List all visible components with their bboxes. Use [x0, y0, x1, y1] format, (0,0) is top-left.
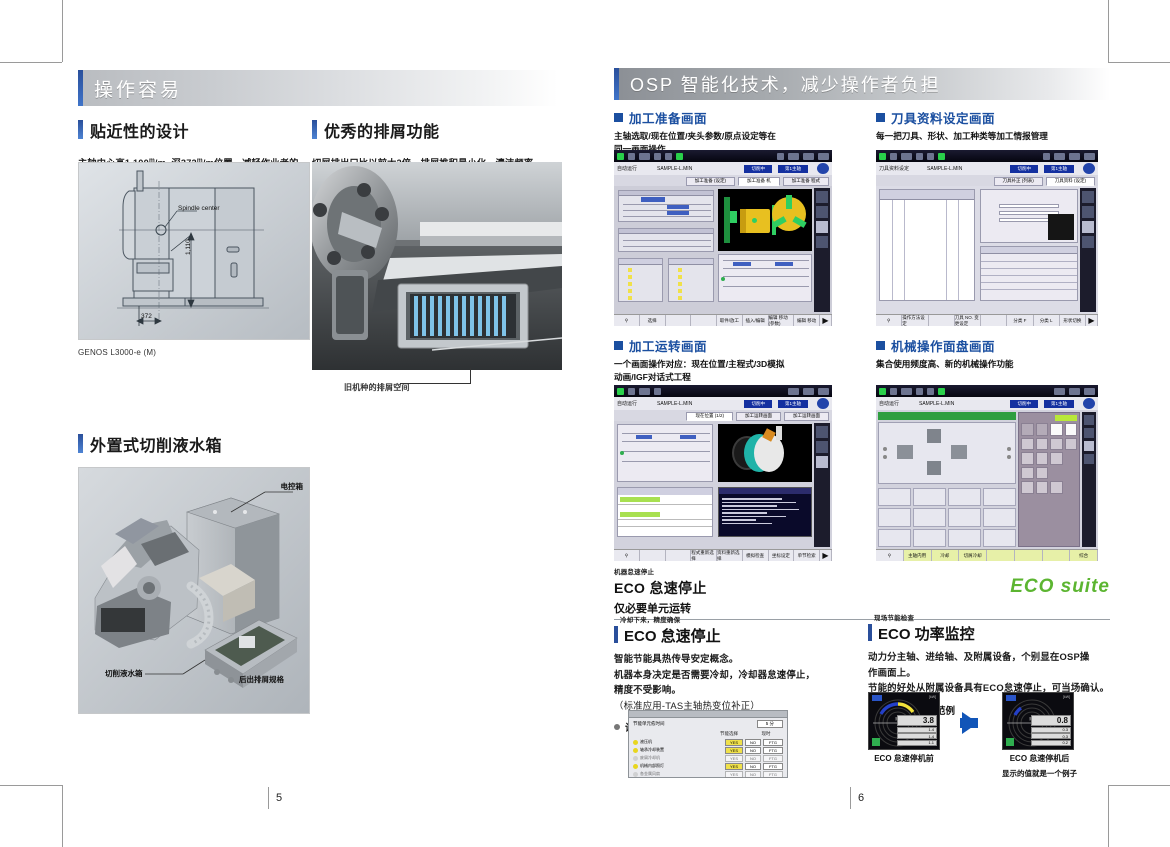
page-number-right: 6 — [858, 792, 864, 804]
softkey-6[interactable]: 形状切换 — [1060, 315, 1086, 326]
eco-settings-panel[interactable]: 节能单元愈时间 5 分 节能选择 现时 液压机 YES NO FTG — [628, 710, 788, 778]
heading-tick — [614, 626, 618, 643]
gauge-after[interactable]: [kW] 测时 电力 0.8 0.3 0.3 0.2 — [1002, 692, 1074, 750]
comparison-arrow-icon — [962, 712, 978, 734]
softkey-2[interactable]: 切屑冷却 — [959, 550, 987, 561]
osp-mode-label: 自动运行 — [617, 400, 637, 407]
osp-tab-1[interactable]: 刀具资料 (设定) — [1046, 177, 1095, 186]
osp-toolbar[interactable] — [614, 385, 832, 397]
softkey-3[interactable] — [981, 315, 1007, 326]
osp-program-name: SAMPLE-L.MIN — [927, 166, 962, 172]
caption-genos-l3000: GENOS L3000-e (M) — [78, 348, 156, 357]
softkey-0[interactable]: 主轴内用 — [904, 550, 932, 561]
heading-text: 加工准备画面 — [629, 108, 707, 127]
osp-status-b: 第1主轴 — [1044, 165, 1074, 173]
gauge-unit-before: [kW] — [929, 695, 936, 699]
sim-viewport-3d[interactable] — [718, 424, 812, 482]
heading-tick — [868, 624, 872, 641]
row-no[interactable]: NO — [745, 747, 761, 754]
right-page: OSP 智能化技术，减少操作者负担 加工准备画面 主轴选取/现在位置/夹头参数/… — [600, 0, 1130, 847]
folio-rule — [850, 787, 851, 809]
row-no[interactable]: NO — [745, 739, 761, 746]
softkey-0[interactable]: 选择 — [640, 315, 666, 326]
gauge-row-1-after: 0.3 — [1031, 733, 1071, 739]
status-icon[interactable] — [803, 388, 814, 395]
softkey-1[interactable] — [929, 315, 955, 326]
gauge-value-before: 3.8 — [897, 715, 937, 726]
figure-machine-side-drawing: Spindle center 1,110 372 — [78, 162, 310, 340]
graphics-viewport[interactable] — [718, 189, 812, 251]
gauge-row-0-before: 1.4 — [897, 727, 937, 733]
tool-list-table[interactable] — [879, 189, 975, 301]
eco-left-body: 智能节能具热传导安定概念。 机器本身决定是否需要冷却，冷却器怠速停止， 精度不受… — [614, 651, 854, 713]
softkey-icon[interactable]: ⚲ — [876, 315, 902, 326]
caption-old-machine-chip-space: 旧机种的排屑空间 — [344, 382, 410, 393]
softkey-5[interactable]: 分类 L — [1034, 315, 1060, 326]
body-line-4: （标准应用-TAS主轴热变位补正） — [614, 700, 760, 711]
osp-content-tool-data — [876, 186, 1098, 314]
desc-line-1: 集合使用频度高、新的机械操作功能 — [876, 359, 1014, 369]
gauge-after-group: [kW] 测时 电力 0.8 0.3 0.3 0.2 ECO 怠速停机后 显示的… — [1002, 692, 1077, 779]
eco-field-value[interactable]: 5 分 — [757, 720, 783, 728]
gauge-row-2-after: 0.2 — [1031, 740, 1071, 746]
left-page-banner: 操作容易 — [78, 70, 558, 106]
gauge-mode-icon-before — [872, 695, 882, 701]
row-no[interactable]: NO — [745, 755, 761, 762]
osp-status-a: 切削中 — [744, 165, 772, 173]
screen-block-tool-data: 刀具资料设定画面 每一把刀具、形状、加工种类等加工情报管理 — [876, 108, 1110, 143]
help-icon[interactable] — [817, 398, 829, 409]
osp-toolbar[interactable] — [876, 150, 1098, 162]
mode-icon[interactable] — [628, 388, 635, 395]
icon-rail[interactable] — [1082, 412, 1096, 547]
row-name: 液压机 — [640, 739, 723, 745]
figure-chip-conveyor-photo — [312, 162, 562, 370]
left-banner-title: 操作容易 — [94, 75, 182, 102]
heading-tool-data-screen: 刀具资料设定画面 — [876, 108, 1110, 127]
heading-text: 刀具资料设定画面 — [891, 108, 995, 127]
osp-tab-0[interactable]: 刀具补正 (列表) — [994, 177, 1043, 186]
osp-program-name: SAMPLE-L.MIN — [657, 401, 692, 407]
heading-operation-screen: 加工运转画面 — [614, 336, 848, 355]
gauge-caption-before: ECO 怠速停机前 — [868, 753, 940, 764]
softkey-3[interactable] — [987, 550, 1015, 561]
table-row[interactable]: 轴承冷却装置 YES NO FTG — [629, 746, 787, 754]
osp-softkeys-operation[interactable]: ⚲ 程式重新选择 资料重新选择 模拟检查 坐标设定 单节检索 ▶ — [614, 549, 832, 561]
menu-icon[interactable] — [1054, 153, 1065, 160]
osp-content-operation — [614, 421, 832, 549]
row-state[interactable]: FTG — [763, 771, 783, 778]
mode-icon[interactable] — [890, 153, 897, 160]
eco-panel-rows: 液压机 YES NO FTG 轴承冷却装置 YES NO FTG 废屑冷却机 Y… — [629, 738, 787, 778]
clock-icon — [818, 388, 829, 395]
softkey-5[interactable]: 坐标设定 — [769, 550, 795, 561]
row-name: 机械内部照灯 — [640, 763, 723, 769]
heading-text: ECO 功率监控 — [878, 623, 975, 644]
osp-screen-machine-panel[interactable]: 自动运行 SAMPLE-L.MIN 切削中 第1主轴 — [876, 385, 1098, 561]
gauge-row-1-before: 1.4 — [897, 733, 937, 739]
body-line-2: 作画面上。 — [868, 667, 916, 678]
heading-text: 外置式切削液水箱 — [90, 432, 222, 456]
gauge-row-2-before: 1.1 — [897, 740, 937, 746]
eco-panel-colheads: 节能选择 现时 — [629, 730, 787, 738]
menu-icon[interactable] — [1054, 388, 1065, 395]
help-icon[interactable] — [817, 163, 829, 174]
softkey-2[interactable] — [691, 315, 717, 326]
osp-mode-label: 刀具资料设定 — [879, 165, 909, 172]
desc-line-1: 一个画面操作对应：现在位置/主程式/3D模拟 — [614, 359, 784, 369]
heading-machine-panel-screen: 机械操作面盘画面 — [876, 336, 1110, 355]
program-listing[interactable] — [718, 487, 812, 537]
gauge-readout-after: 0.8 0.3 0.3 0.2 — [1031, 715, 1071, 746]
screen-block-operation: 加工运转画面 一个画面操作对应：现在位置/主程式/3D模拟 动画/IGF对话式工… — [614, 336, 848, 384]
eco-right-mini: 现场节能检查 — [868, 612, 1112, 622]
osp-toolbar[interactable] — [614, 150, 832, 162]
osp-content-prep — [614, 186, 832, 314]
desc-operation-screen: 一个画面操作对应：现在位置/主程式/3D模拟 动画/IGF对话式工程 — [614, 358, 848, 384]
softkey-1[interactable] — [666, 315, 692, 326]
run-icon[interactable] — [617, 388, 624, 395]
row-state[interactable]: FTG — [763, 747, 783, 754]
osp-tab-2[interactable]: 加工准备 程式 — [783, 177, 829, 186]
col-head-0: 节能选择 — [709, 731, 749, 737]
osp-status-b: 第1主轴 — [778, 165, 808, 173]
next-page-icon[interactable]: ▶ — [820, 550, 832, 561]
osp-screen-prep[interactable]: 自动运行 SAMPLE-L.MIN 切削中 第1主轴 加工准备 (设定) 加工准… — [614, 150, 832, 326]
left-page: 操作容易 贴近性的设计 主轴中心高1,100m/m, 深372m/m位置，减轻作… — [40, 0, 585, 847]
table-row[interactable]: 机械内部照灯 YES NO FTG — [629, 762, 787, 770]
heading-chip-disposal: 优秀的排屑功能 — [312, 118, 562, 142]
table-row[interactable]: 各金属风扇 YES NO FTG — [629, 770, 787, 778]
osp-tabrow[interactable]: 现在位置 (1/2) 加工运转画面 加工运转画面 — [614, 410, 832, 421]
heading-text: 优秀的排屑功能 — [324, 118, 440, 142]
osp-status-a: 切削中 — [744, 400, 772, 408]
banner-accent-bar — [614, 68, 619, 100]
gauge-unit-after: [kW] — [1063, 695, 1070, 699]
softkey-5[interactable]: 编辑 移动 (参数) — [769, 315, 795, 326]
osp-status-a: 切削中 — [1010, 400, 1038, 408]
row-name: 轴承冷却装置 — [640, 747, 723, 753]
heading-text: 机械操作面盘画面 — [891, 336, 995, 355]
square-bullet-icon — [614, 113, 623, 122]
row-yes[interactable]: YES — [725, 747, 743, 754]
softkey-3[interactable]: 资料重新选择 — [717, 550, 743, 561]
state-dot-icon — [633, 772, 638, 777]
row-yes[interactable]: YES — [725, 755, 743, 762]
icon-palette[interactable] — [1018, 412, 1080, 547]
coolant-icon[interactable] — [927, 388, 934, 395]
osp-program-name: SAMPLE-L.MIN — [919, 401, 954, 407]
menu-icon[interactable] — [788, 153, 799, 160]
banner-accent-bar — [78, 70, 83, 106]
desc-line-2: 动画/IGF对话式工程 — [614, 372, 691, 382]
run-icon[interactable] — [879, 153, 886, 160]
softkey-1[interactable]: 冷却 — [932, 550, 960, 561]
alarm-icon[interactable] — [1043, 153, 1050, 160]
folio-left: 5 — [268, 787, 282, 809]
label-spindle-center: Spindle center — [178, 205, 220, 212]
tool-offset-table[interactable] — [980, 246, 1078, 301]
caption-leader-h — [400, 383, 471, 384]
menu-icon[interactable] — [788, 388, 799, 395]
row-yes[interactable]: YES — [725, 771, 743, 778]
spindle-icon[interactable] — [916, 153, 923, 160]
machine-schematic[interactable] — [878, 422, 1016, 484]
softkey-3[interactable]: 取件/放工 — [717, 315, 743, 326]
next-page-icon[interactable]: ▶ — [820, 315, 832, 326]
osp-content-machine-panel — [876, 410, 1098, 549]
osp-toolbar[interactable] — [876, 385, 1098, 397]
row-no[interactable]: NO — [745, 771, 761, 778]
eco-panel-titlebar — [629, 711, 787, 718]
osp-screen-operation[interactable]: 自动运行 SAMPLE-L.MIN 切削中 第1主轴 现在位置 (1/2) 加工… — [614, 385, 832, 561]
osp-tab-0[interactable]: 加工准备 (设定) — [686, 177, 735, 186]
clock-icon — [1084, 388, 1095, 395]
heading-tick — [312, 120, 317, 139]
table-row[interactable]: 液压机 YES NO FTG — [629, 738, 787, 746]
heading-prep-screen: 加工准备画面 — [614, 108, 842, 127]
osp-tabrow[interactable]: 加工准备 (设定) 加工准备 机 加工准备 程式 — [614, 175, 832, 186]
osp-mode-label: 自动运行 — [617, 165, 637, 172]
figure-coolant-tank-layout: 电控箱 切削液水箱 后出排屑规格 — [78, 467, 310, 714]
clock-icon — [818, 153, 829, 160]
col-head-1: 现时 — [749, 731, 783, 737]
run-icon[interactable] — [879, 388, 886, 395]
osp-titlebar: 刀具资料设定 SAMPLE-L.MIN 切削中 第1主轴 — [876, 162, 1098, 175]
heading-external-coolant-tank: 外置式切削液水箱 — [78, 432, 378, 456]
row-state[interactable]: FTG — [763, 763, 783, 770]
row-state[interactable]: FTG — [763, 739, 783, 746]
square-bullet-icon — [876, 341, 885, 350]
osp-screen-tool-data[interactable]: 刀具资料设定 SAMPLE-L.MIN 切削中 第1主轴 刀具补正 (列表) 刀… — [876, 150, 1098, 326]
eco-leaf-icon-after — [1006, 738, 1014, 746]
spindle-icon[interactable] — [654, 388, 661, 395]
process-table[interactable] — [617, 487, 713, 537]
feed-icon[interactable] — [901, 388, 912, 395]
body-line-2: 机器本身决定是否需要冷却，冷却器怠速停止， — [614, 669, 815, 680]
softkey-4[interactable]: 分类 F — [1007, 315, 1033, 326]
heading-text: ECO 怠速停止 — [624, 625, 721, 646]
softkey-icon[interactable]: ⚲ — [614, 315, 640, 326]
square-bullet-icon — [876, 113, 885, 122]
osp-mode-label: 自动运行 — [879, 400, 899, 407]
right-banner-title: OSP 智能化技术，减少操作者负担 — [630, 71, 941, 97]
eco-title: ECO 怠速停止 — [614, 578, 707, 598]
param-table-2[interactable] — [618, 228, 714, 252]
softkey-4[interactable]: 插入/编辑 — [743, 315, 769, 326]
osp-status-b: 第1主轴 — [1044, 400, 1074, 408]
desc-line-1: 主轴选取/现在位置/夹头参数/原点设定等在 — [614, 131, 776, 141]
eco-left-heading: ECO 怠速停止 — [614, 625, 854, 646]
osp-tab-0[interactable]: 现在位置 (1/2) — [686, 412, 733, 421]
softkey-1[interactable] — [666, 550, 692, 561]
row-name: 废屑冷却机 — [640, 755, 723, 761]
tool-icon[interactable] — [676, 153, 683, 160]
status-icon[interactable] — [1069, 388, 1080, 395]
next-page-icon[interactable]: ▶ — [1086, 315, 1098, 326]
position-panel[interactable] — [617, 424, 713, 482]
gauge-mode-icon-after — [1006, 695, 1016, 701]
icon-rail[interactable] — [814, 423, 830, 547]
osp-status-b: 第1主轴 — [778, 400, 808, 408]
eco-field-label: 节能单元愈时间 — [633, 721, 665, 727]
gauge-caption-after: ECO 怠速停机后 — [1002, 753, 1077, 764]
row-name: 各金属风扇 — [640, 771, 723, 777]
spindle-icon[interactable] — [916, 388, 923, 395]
coolant-icon[interactable] — [927, 153, 934, 160]
run-icon[interactable] — [617, 153, 624, 160]
label-rear-chip-spec: 后出排屑规格 — [239, 674, 284, 685]
bullet-dot-icon — [614, 724, 620, 730]
spindle-icon[interactable] — [654, 153, 661, 160]
softkey-6[interactable]: 编辑 移动 — [794, 315, 820, 326]
gauge-value-after: 0.8 — [1031, 715, 1071, 726]
desc-tool-data-screen: 每一把刀具、形状、加工种类等加工情报管理 — [876, 130, 1110, 143]
offset-table-left[interactable] — [618, 258, 663, 302]
row-no[interactable]: NO — [745, 763, 761, 770]
osp-softkeys-prep[interactable]: ⚲ 选择 取件/放工 插入/编辑 编辑 移动 (参数) 编辑 移动 ▶ — [614, 314, 832, 326]
eco-small-label: 机器怠速停止 — [614, 566, 1110, 576]
screen-block-machine-panel: 机械操作面盘画面 集合使用频度高、新的机械操作功能 — [876, 336, 1110, 371]
osp-softkeys-machine-panel[interactable]: ⚲ 主轴内用 冷却 切屑冷却 综合 — [876, 549, 1098, 561]
gauge-row-0-after: 0.3 — [1031, 727, 1071, 733]
softkey-2[interactable]: 程式重新选择 — [691, 550, 717, 561]
osp-tab-1[interactable]: 加工准备 机 — [738, 177, 780, 186]
feed-icon[interactable] — [901, 153, 912, 160]
softkey-icon[interactable]: ⚲ — [614, 550, 640, 561]
status-icon[interactable] — [1069, 153, 1080, 160]
state-dot-icon — [633, 764, 638, 769]
brochure-spread: 操作容易 贴近性的设计 主轴中心高1,100m/m, 深372m/m位置，减轻作… — [0, 0, 1170, 847]
coolant-icon[interactable] — [665, 153, 672, 160]
state-dot-icon — [633, 748, 638, 753]
gauge-footnote: 显示的值就是一个例子 — [1002, 768, 1077, 779]
eco-panel-field-row[interactable]: 节能单元愈时间 5 分 — [629, 718, 787, 730]
eco-leaf-icon-before — [872, 738, 880, 746]
function-button-grid[interactable] — [878, 488, 1016, 547]
heading-tick — [78, 120, 83, 139]
help-icon[interactable] — [1083, 163, 1095, 174]
body-line-1: 动力分主轴、进给轴、及附属设备，个别显在OSP操 — [868, 651, 1089, 662]
softkey-icon[interactable]: ⚲ — [876, 550, 904, 561]
position-readout[interactable] — [718, 254, 812, 302]
power-gauge-comparison: [kW] 测时 电力 3.8 1.4 1.4 1.1 ECO 怠速停机前 — [868, 692, 1112, 779]
heading-proximity-design: 贴近性的设计 — [78, 118, 308, 142]
eco-right-heading: ECO 功率监控 — [868, 623, 1112, 644]
osp-titlebar: 自动运行 SAMPLE-L.MIN 切削中 第1主轴 — [614, 397, 832, 410]
tool-icon[interactable] — [938, 153, 945, 160]
heading-text: 加工运转画面 — [629, 336, 707, 355]
osp-program-name: SAMPLE-L.MIN — [657, 166, 692, 172]
desc-line-1: 每一把刀具、形状、加工种类等加工情报管理 — [876, 131, 1048, 141]
mode-icon[interactable] — [890, 388, 897, 395]
folio-right: 6 — [850, 787, 864, 809]
state-dot-icon — [633, 740, 638, 745]
status-icon[interactable] — [803, 153, 814, 160]
heading-tick — [78, 434, 83, 453]
caption-leader-v — [470, 368, 471, 384]
help-icon[interactable] — [1083, 398, 1095, 409]
eco-left-mini: 冷却下来，精度确保 — [614, 614, 854, 624]
eco-right-body: 动力分主轴、进给轴、及附属设备，个别显在OSP操 作画面上。 节能的好处从附属设… — [868, 649, 1112, 696]
machine-side-svg — [79, 163, 310, 340]
gauge-before[interactable]: [kW] 测时 电力 3.8 1.4 1.4 1.1 — [868, 692, 940, 750]
gauge-before-group: [kW] 测时 电力 3.8 1.4 1.4 1.1 ECO 怠速停机前 — [868, 692, 940, 764]
chip-conveyor-svg — [312, 162, 562, 370]
row-yes[interactable]: YES — [725, 739, 743, 746]
folio-rule — [268, 787, 269, 809]
row-state[interactable]: FTG — [763, 755, 783, 762]
row-yes[interactable]: YES — [725, 763, 743, 770]
label-control-box: 电控箱 — [281, 481, 304, 492]
right-page-banner: OSP 智能化技术，减少操作者负担 — [614, 68, 1110, 100]
heading-text: 贴近性的设计 — [90, 118, 189, 142]
softkey-0[interactable] — [640, 550, 666, 561]
feed-icon[interactable] — [639, 153, 650, 160]
table-row[interactable]: 废屑冷却机 YES NO FTG — [629, 754, 787, 762]
feed-icon[interactable] — [639, 388, 650, 395]
offset-table-right[interactable] — [668, 258, 714, 302]
status-strip — [878, 412, 1016, 420]
tool-icon[interactable] — [938, 388, 945, 395]
page-number-left: 5 — [276, 792, 282, 804]
softkey-2[interactable]: 刀具 NO. 变更设定 — [955, 315, 981, 326]
osp-status-a: 切削中 — [1010, 165, 1038, 173]
body-line-3: 精度不受影响。 — [614, 684, 681, 695]
mode-icon[interactable] — [628, 153, 635, 160]
square-bullet-icon — [614, 341, 623, 350]
softkey-5[interactable] — [1043, 550, 1071, 561]
label-depth-372: 372 — [141, 313, 152, 320]
icon-rail[interactable] — [1080, 188, 1096, 312]
state-dot-icon — [633, 756, 638, 761]
tool-detail-panel[interactable] — [980, 189, 1078, 243]
osp-tab-1[interactable]: 加工运转画面 — [736, 412, 781, 421]
screen-block-prep: 加工准备画面 主轴选取/现在位置/夹头参数/原点设定等在 同一画面操作 — [614, 108, 842, 156]
eco-suite-logo: ECO suite — [1010, 576, 1110, 598]
softkey-4[interactable] — [1015, 550, 1043, 561]
alarm-icon[interactable] — [777, 153, 784, 160]
clock-icon — [1084, 153, 1095, 160]
label-coolant-tank: 切削液水箱 — [105, 668, 143, 679]
softkey-6[interactable]: 单节检索 — [794, 550, 820, 561]
osp-tabrow[interactable]: 刀具补正 (列表) 刀具资料 (设定) — [876, 175, 1098, 186]
osp-titlebar: 自动运行 SAMPLE-L.MIN 切削中 第1主轴 — [614, 162, 832, 175]
softkey-6[interactable]: 综合 — [1070, 550, 1098, 561]
body-line-1: 智能节能具热传导安定概念。 — [614, 653, 738, 664]
label-height-1110: 1,110 — [185, 239, 192, 255]
softkey-4[interactable]: 模拟检查 — [743, 550, 769, 561]
gauge-readout-before: 3.8 1.4 1.4 1.1 — [897, 715, 937, 746]
desc-machine-panel-screen: 集合使用频度高、新的机械操作功能 — [876, 358, 1110, 371]
osp-titlebar: 自动运行 SAMPLE-L.MIN 切削中 第1主轴 — [876, 397, 1098, 410]
osp-tab-2[interactable]: 加工运转画面 — [784, 412, 829, 421]
osp-softkeys-tool-data[interactable]: ⚲ 操作方法设定 刀具 NO. 变更设定 分类 F 分类 L 形状切换 ▶ — [876, 314, 1098, 326]
icon-rail[interactable] — [814, 188, 830, 312]
param-table-1[interactable] — [618, 190, 714, 222]
softkey-0[interactable]: 操作方法设定 — [902, 315, 928, 326]
